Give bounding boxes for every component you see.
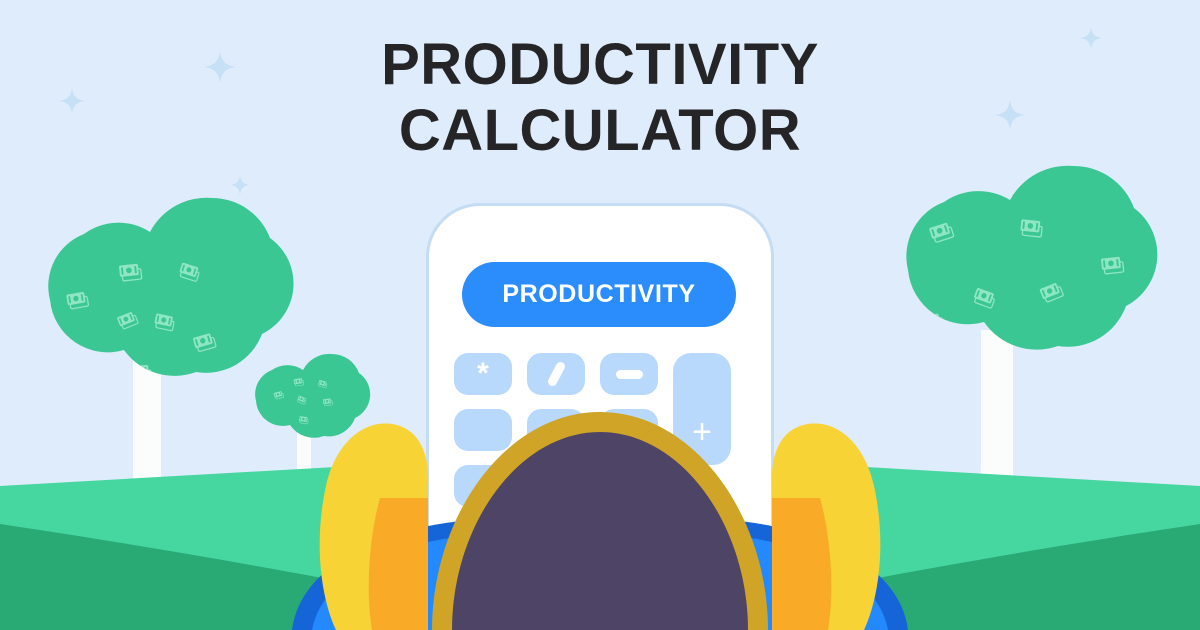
illustration-canvas: PRODUCTIVITY CALCULATOR PRODUCTIVITY * + bbox=[0, 0, 1200, 630]
calculator-display: PRODUCTIVITY bbox=[462, 262, 736, 327]
keypad-key[interactable] bbox=[527, 409, 585, 451]
keypad-key[interactable] bbox=[454, 409, 512, 451]
keypad-key[interactable] bbox=[600, 465, 658, 507]
plus-key[interactable]: + bbox=[673, 353, 731, 465]
minus-icon bbox=[616, 370, 643, 379]
calculator-keypad: * + bbox=[454, 353, 746, 528]
minus-key[interactable] bbox=[600, 353, 658, 395]
calculator-display-text: PRODUCTIVITY bbox=[502, 280, 695, 309]
keypad-key[interactable] bbox=[454, 465, 512, 507]
asterisk-icon: * bbox=[477, 362, 489, 386]
keypad-key[interactable] bbox=[527, 465, 585, 507]
multiply-key[interactable]: * bbox=[454, 353, 512, 395]
calculator: PRODUCTIVITY * + bbox=[426, 203, 774, 533]
plus-icon: + bbox=[692, 415, 712, 449]
slash-icon bbox=[546, 360, 566, 387]
keypad-key[interactable] bbox=[600, 409, 658, 451]
divide-key[interactable] bbox=[527, 353, 585, 395]
